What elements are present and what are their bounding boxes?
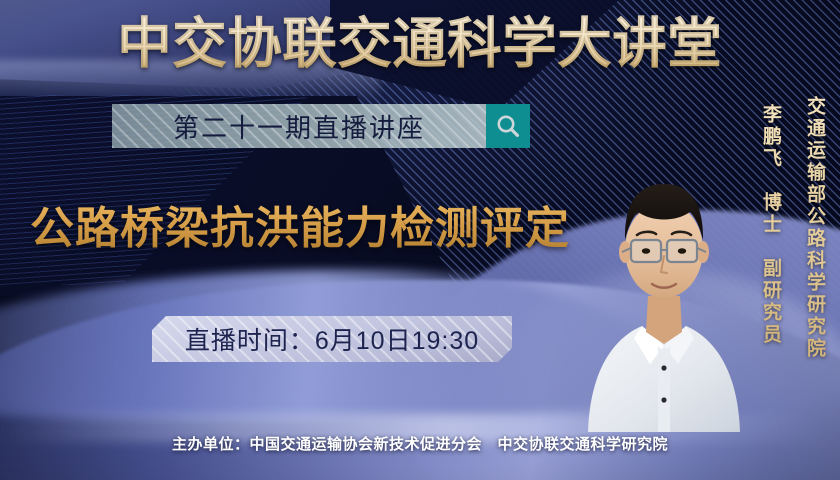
vignette-overlay <box>0 0 840 480</box>
subtitle-text: 第二十一期直播讲座 <box>173 108 425 145</box>
live-stream-poster: 中交协联交通科学大讲堂 第二十一期直播讲座 公路桥梁抗洪能力检测评定 直播时间：… <box>0 0 840 480</box>
